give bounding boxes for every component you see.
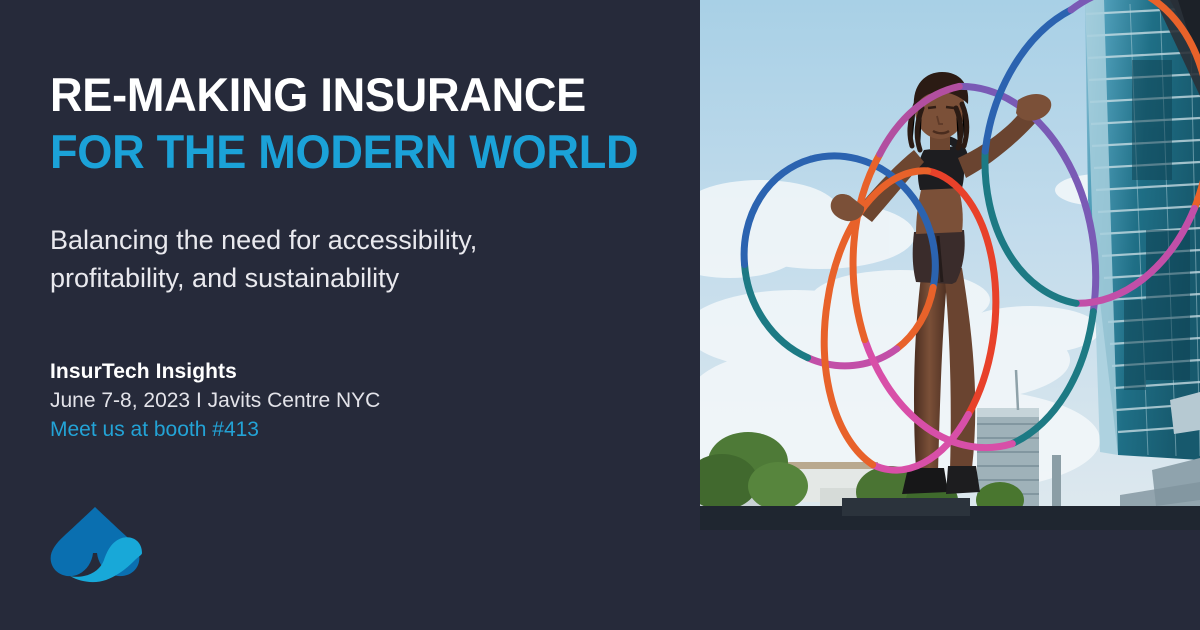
- event-date-venue: June 7-8, 2023 I Javits Centre NYC: [50, 386, 550, 415]
- company-logo: [46, 505, 144, 583]
- ledge-block: [842, 498, 970, 516]
- water-drop-icon: [46, 505, 144, 583]
- subheadline-line-1: Balancing the need for accessibility,: [50, 221, 580, 259]
- subheadline-line-2: profitability, and sustainability: [50, 259, 580, 297]
- hula-hoop-performer-photo: [700, 0, 1200, 530]
- text-column: RE-MAKING INSURANCE FOR THE MODERN WORLD…: [0, 0, 700, 630]
- event-booth: Meet us at booth #413: [50, 415, 550, 444]
- headline-line-1: RE-MAKING INSURANCE: [50, 66, 664, 123]
- event-name: InsurTech Insights: [50, 358, 550, 386]
- photo-illustration: [700, 0, 1200, 530]
- subheadline: Balancing the need for accessibility, pr…: [50, 221, 580, 297]
- promo-banner: RE-MAKING INSURANCE FOR THE MODERN WORLD…: [0, 0, 1200, 630]
- headline: RE-MAKING INSURANCE FOR THE MODERN WORLD: [50, 66, 690, 180]
- headline-line-2: FOR THE MODERN WORLD: [50, 123, 664, 180]
- event-details: InsurTech Insights June 7-8, 2023 I Javi…: [50, 358, 550, 444]
- performer-shoe-right: [946, 466, 980, 494]
